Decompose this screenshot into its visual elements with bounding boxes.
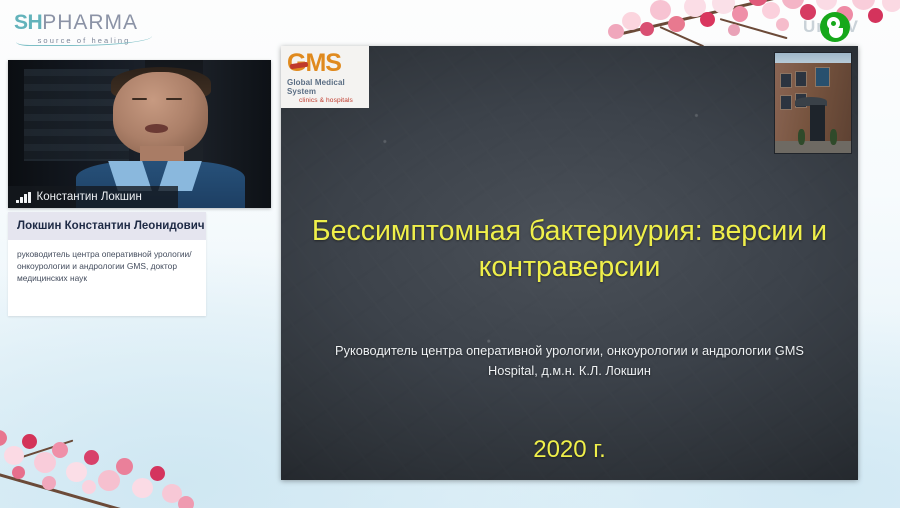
video-tile[interactable]: Константин Локшин <box>8 60 271 208</box>
photo-bush <box>830 129 838 145</box>
photo-bush <box>798 129 806 145</box>
gms-logo: GMS Global Medical System clinics & hosp… <box>281 46 369 108</box>
speaker-card-header: Локшин Константин Леонидович <box>8 212 206 240</box>
brand-sh-text: SH <box>14 11 42 34</box>
gms-logo-line2: Global Medical System <box>287 78 365 96</box>
participant-name-bar: Константин Локшин <box>8 186 178 208</box>
photo-entrance <box>810 105 825 145</box>
photo-sidewalk <box>775 141 851 153</box>
brand-pharma-text: PHARMA <box>42 11 138 34</box>
slide-title: Бессимптомная бактериурия: версии и конт… <box>303 214 836 285</box>
photo-window <box>815 67 831 87</box>
hospital-building-photo-icon <box>774 52 852 154</box>
photo-window <box>780 73 793 88</box>
green-circle-e-logo-icon <box>820 12 850 42</box>
sakura-bottom-left <box>0 418 216 508</box>
urotv-logo: UroTV <box>776 8 886 46</box>
photo-window <box>780 95 793 110</box>
speaker-info-card: Локшин Константин Леонидович руководител… <box>8 212 206 316</box>
speaker-card-body: руководитель центра оперативной урологии… <box>8 240 206 285</box>
sh-pharma-logo: SHPHARMA source of healing <box>14 12 154 48</box>
slide-canvas: GMS Global Medical System clinics & hosp… <box>281 46 858 480</box>
participant-name: Константин Локшин <box>37 191 142 203</box>
gms-logo-line3: clinics & hospitals <box>287 97 365 104</box>
presentation-stage: SHPHARMA source of healing UroTV <box>0 0 900 508</box>
speaker-description: руководитель центра оперативной урологии… <box>17 248 197 285</box>
signal-bars-icon <box>16 192 31 203</box>
slide-subtitle: Руководитель центра оперативной урологии… <box>321 341 818 382</box>
speaker-name: Локшин Константин Леонидович <box>17 220 205 232</box>
person-head <box>113 72 208 155</box>
photo-window <box>795 71 808 87</box>
person-mouth <box>145 124 169 133</box>
slide-year: 2020 г. <box>281 436 858 464</box>
